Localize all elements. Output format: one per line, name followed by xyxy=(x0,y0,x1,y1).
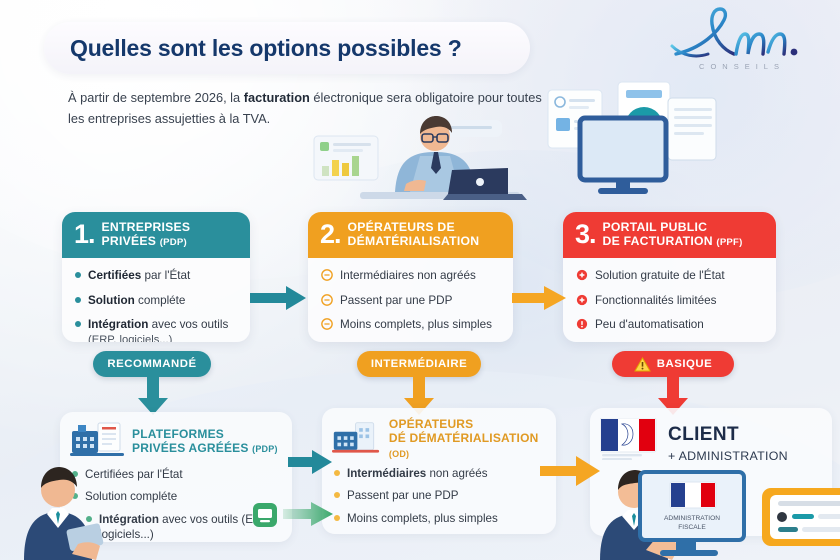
badge-recommande-label: RECOMMANDÉ xyxy=(107,358,196,370)
card-1-item-2-bold: Solution xyxy=(88,294,135,307)
lm-script-mark-icon xyxy=(658,6,826,68)
bottom-left-title-line2: PRIVÉES AGRÉÉES xyxy=(132,441,249,455)
minus-circle-icon xyxy=(321,269,333,281)
card-2-item-1: Intermédiaires non agréés xyxy=(321,268,500,284)
bottom-center-title-abbr: (OD) xyxy=(389,449,409,459)
green-monitor-icon xyxy=(252,502,278,528)
card-1-item-2: Solution compléte xyxy=(75,293,237,309)
option-card-1-entreprises-privees[interactable]: 1. ENTREPRISES PRIVÉES (PDP) Certifiées … xyxy=(62,212,250,342)
subtitle-text: À partir de septembre 2026, la facturati… xyxy=(68,88,548,129)
infographic-canvas: CONSEILS Quelles sont les options possib… xyxy=(0,0,840,560)
bottom-center-list: Intermédiaires non agréés Passent par un… xyxy=(322,464,556,526)
minus-circle-icon xyxy=(321,318,333,330)
bullet-dot-icon xyxy=(334,492,340,498)
administration-fiscale-monitor: ADMINISTRATION FISCALE xyxy=(636,470,756,560)
card-2-body: Intermédiaires non agréés Passent par un… xyxy=(308,258,513,342)
bottom-center-title: OPÉRATEURS DÉ DÉMATÉRIALISATION (OD) xyxy=(389,417,546,460)
minus-circle-icon xyxy=(321,294,333,306)
card-1-title-line2: PRIVÉES xyxy=(102,234,157,248)
logo-tagline: CONSEILS xyxy=(658,62,826,71)
badge-basique[interactable]: BASIQUE xyxy=(612,351,734,377)
french-republic-logo xyxy=(600,418,662,460)
card-3-title-abbr: (PPF) xyxy=(716,237,742,248)
card-2-item-1-text: Intermédiaires non agréés xyxy=(340,268,476,284)
bottom-center-item-1: Intermédiaires non agréés xyxy=(334,466,546,481)
arrow-card1-down xyxy=(136,376,170,416)
card-1-number: 1. xyxy=(74,223,95,246)
card-3-title-line1: PORTAIL PUBLIC xyxy=(603,220,708,234)
card-3-item-2-text: Fonctionnalités limitées xyxy=(595,293,716,309)
documents-validation-illustration xyxy=(540,74,718,206)
card-3-item-3-text: Peu d'automatisation xyxy=(595,317,704,333)
subtitle-highlight: facturation xyxy=(244,90,310,105)
page-title: Quelles sont les options possibles ? xyxy=(70,37,462,60)
card-2-title-line1: OPÉRATEURS DE xyxy=(348,220,455,234)
card-3-item-1: Solution gratuite de l'État xyxy=(576,268,763,284)
warning-triangle-icon xyxy=(634,357,651,372)
card-1-item-3-rest: avec vos outils xyxy=(148,318,228,331)
card-1-item-3: Intégration avec vos outils (ERP, logici… xyxy=(75,317,237,342)
card-2-number: 2. xyxy=(320,223,341,246)
plus-circle-icon xyxy=(576,269,588,281)
person-illustration-left xyxy=(14,452,118,560)
bullet-dot-icon xyxy=(75,321,81,327)
monitor-screen-label-1: ADMINISTRATION xyxy=(664,515,720,522)
card-1-item-2-rest: compléte xyxy=(135,294,186,307)
card-3-title: PORTAIL PUBLIC DE FACTURATION (PPF) xyxy=(603,220,743,249)
bottom-center-item-1-rest: non agréés xyxy=(426,467,487,480)
plus-circle-icon xyxy=(576,294,588,306)
client-title: CLIENT xyxy=(668,424,788,446)
badge-recommande[interactable]: RECOMMANDÉ xyxy=(93,351,211,377)
arrow-operator-to-client xyxy=(540,452,602,490)
bullet-dot-icon xyxy=(75,297,81,303)
monitor-screen-label-2: FISCALE xyxy=(678,524,706,531)
bottom-left-title-line1: PLATEFORMES xyxy=(132,427,224,441)
badge-intermediaire[interactable]: INTERMÉDIAIRE xyxy=(357,351,481,377)
card-1-title-line1: ENTREPRISES xyxy=(102,220,191,234)
card-1-title: ENTREPRISES PRIVÉES (PDP) xyxy=(102,220,191,249)
bottom-center-header: OPÉRATEURS DÉ DÉMATÉRIALISATION (OD) xyxy=(322,408,556,464)
card-3-body: Solution gratuite de l'État Fonctionnali… xyxy=(563,258,776,342)
bullet-dot-icon xyxy=(75,272,81,278)
card-2-item-3-text: Moins complets, plus simples xyxy=(340,317,492,333)
bottom-center-item-1-bold: Intermédiaires xyxy=(347,467,426,480)
exclamation-circle-icon xyxy=(576,318,588,330)
bottom-left-item-3-rest: avec vos outils xyxy=(159,513,238,526)
card-3-header: 3. PORTAIL PUBLIC DE FACTURATION (PPF) xyxy=(563,212,776,258)
card-2-title: OPÉRATEURS DE DÉMATÉRIALISATION xyxy=(348,220,480,249)
option-card-2-operateurs-dematerialisation[interactable]: 2. OPÉRATEURS DE DÉMATÉRIALISATION Inter… xyxy=(308,212,513,342)
card-3-number: 3. xyxy=(575,223,596,246)
card-1-item-1-rest: par l'État xyxy=(141,269,190,282)
bottom-left-title-abbr: (PDP) xyxy=(252,444,278,454)
card-3-title-line2: DE FACTURATION xyxy=(603,234,713,248)
bullet-dot-icon xyxy=(334,470,340,476)
card-1-item-3-sub: (ERP, logiciels...) xyxy=(88,333,228,342)
card-1-item-1-bold: Certifiées xyxy=(88,269,141,282)
arrow-card1-to-card2 xyxy=(250,284,310,312)
bottom-center-item-3: Moins complets, plus simples xyxy=(334,511,546,526)
subtitle-part-1: À partir de septembre 2026, la xyxy=(68,90,244,105)
bottom-left-title: PLATEFORMES PRIVÉES AGRÉÉES (PDP) xyxy=(132,427,278,456)
arrow-platform-to-operator xyxy=(288,448,334,476)
card-2-item-2-text: Passent par une PDP xyxy=(340,293,452,309)
bottom-center-title-line2: DÉ DÉMATÉRIALISATION xyxy=(389,431,539,445)
bottom-center-title-line1: OPÉRATEURS xyxy=(389,417,473,431)
card-2-item-2: Passent par une PDP xyxy=(321,293,500,309)
card-2-title-line2: DÉMATÉRIALISATION xyxy=(348,234,480,248)
bottom-center-item-3-text: Moins complets, plus simples xyxy=(347,511,498,526)
bottom-center-item-2-text: Passent par une PDP xyxy=(347,488,459,503)
arrow-tools-to-operator xyxy=(283,500,335,528)
card-2-header: 2. OPÉRATEURS DE DÉMATÉRIALISATION xyxy=(308,212,513,258)
orange-form-card-illustration xyxy=(760,486,840,548)
card-1-title-abbr: (PDP) xyxy=(160,237,187,248)
card-3-item-2: Fonctionnalités limitées xyxy=(576,293,763,309)
bottom-center-item-2: Passent par une PDP xyxy=(334,488,546,503)
badge-intermediaire-label: INTERMÉDIAIRE xyxy=(371,358,467,370)
bottom-card-operateurs-dematerialisation[interactable]: OPÉRATEURS DÉ DÉMATÉRIALISATION (OD) Int… xyxy=(322,408,556,534)
option-card-3-portail-public-facturation[interactable]: 3. PORTAIL PUBLIC DE FACTURATION (PPF) S… xyxy=(563,212,776,342)
brand-logo: CONSEILS xyxy=(658,6,826,82)
card-1-header: 1. ENTREPRISES PRIVÉES (PDP) xyxy=(62,212,250,258)
title-banner: Quelles sont les options possibles ? xyxy=(44,22,530,74)
arrow-card2-to-card3 xyxy=(512,284,568,312)
badge-basique-label: BASIQUE xyxy=(657,358,712,370)
card-3-item-1-text: Solution gratuite de l'État xyxy=(595,268,725,284)
card-2-item-3: Moins complets, plus simples xyxy=(321,317,500,333)
card-1-item-1: Certifiées par l'État xyxy=(75,268,237,284)
card-1-body: Certifiées par l'État Solution compléte … xyxy=(62,258,250,342)
card-1-item-3-bold: Intégration xyxy=(88,318,148,331)
office-building-icon xyxy=(332,419,381,459)
card-3-item-3: Peu d'automatisation xyxy=(576,317,763,333)
